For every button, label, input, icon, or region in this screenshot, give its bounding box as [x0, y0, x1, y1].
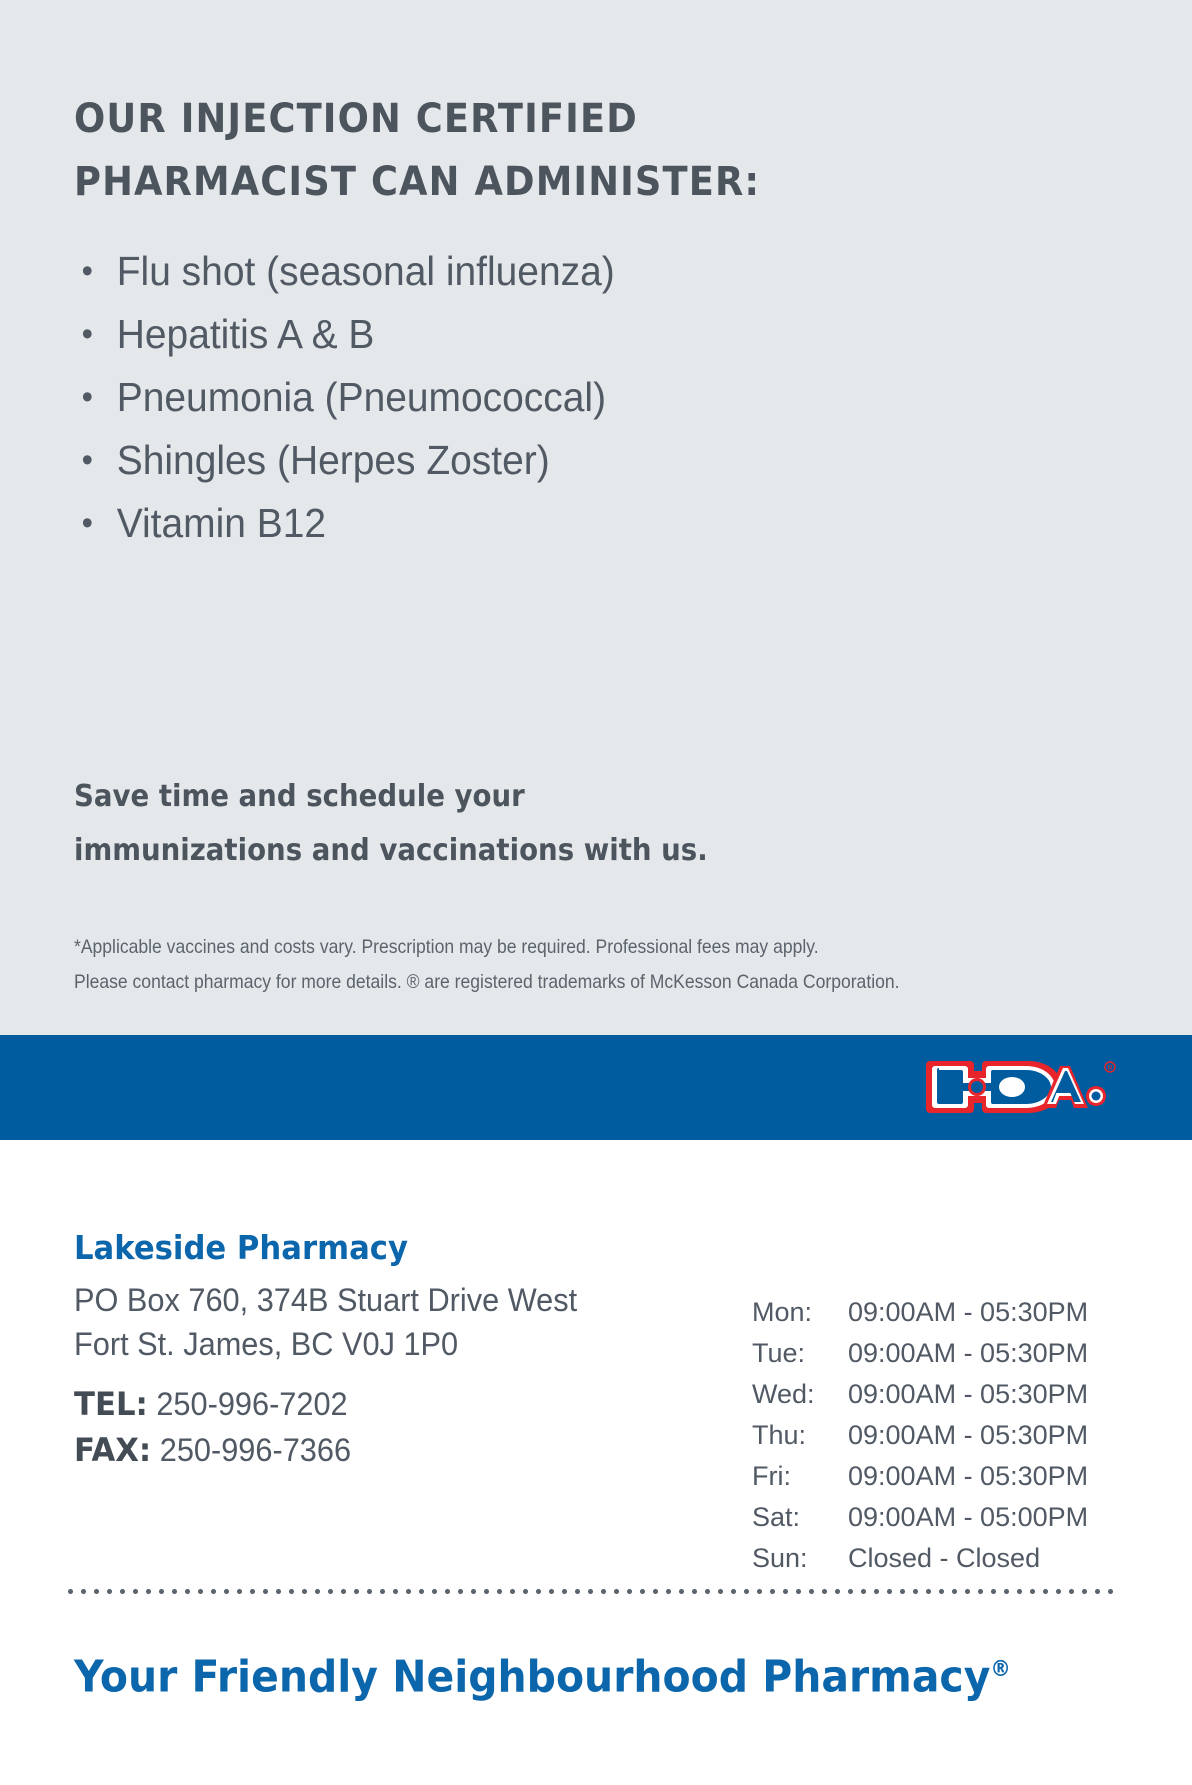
hours-time: 09:00AM - 05:30PM — [848, 1456, 1088, 1497]
bullet-icon: • — [82, 303, 93, 366]
hours-day: Sun: — [752, 1538, 848, 1579]
hours-time: 09:00AM - 05:30PM — [848, 1415, 1088, 1456]
hours-time: Closed - Closed — [848, 1538, 1040, 1579]
cta-line-1: Save time and schedule your — [74, 770, 773, 824]
store-contact: TEL: 250-996-7202 FAX: 250-996-7366 — [74, 1381, 688, 1473]
cta-line-2: immunizations and vaccinations with us. — [74, 824, 773, 878]
hours-time: 09:00AM - 05:30PM — [848, 1333, 1088, 1374]
store-info-panel: Lakeside Pharmacy PO Box 760, 374B Stuar… — [0, 1140, 1192, 1785]
telephone-row: TEL: 250-996-7202 — [74, 1381, 688, 1427]
ida-logo: R — [924, 1051, 1124, 1123]
page-title: OUR INJECTION CERTIFIED PHARMACIST CAN A… — [74, 88, 828, 214]
services-panel: OUR INJECTION CERTIFIED PHARMACIST CAN A… — [0, 0, 1192, 1035]
registered-mark: ® — [990, 1657, 1010, 1682]
hours-day: Tue: — [752, 1333, 848, 1374]
hours-day: Mon: — [752, 1292, 848, 1333]
bullet-icon: • — [82, 492, 93, 555]
hours-row: Sun:Closed - Closed — [752, 1538, 1088, 1579]
vaccine-list-item: •Pneumonia (Pneumococcal) — [74, 366, 891, 429]
hours-row: Tue:09:00AM - 05:30PM — [752, 1333, 1088, 1374]
vaccine-list: •Flu shot (seasonal influenza)•Hepatitis… — [74, 240, 934, 555]
dotted-divider — [64, 1588, 1119, 1595]
bullet-icon: • — [82, 366, 93, 429]
disclaimer-line-2: Please contact pharmacy for more details… — [74, 965, 1046, 1000]
bullet-icon: • — [82, 429, 93, 492]
hours-day: Sat: — [752, 1497, 848, 1538]
vaccine-label: Shingles (Herpes Zoster) — [117, 437, 550, 483]
hours-day: Wed: — [752, 1374, 848, 1415]
tagline: Your Friendly Neighbourhood Pharmacy® — [74, 1640, 1011, 1708]
flyer-page: OUR INJECTION CERTIFIED PHARMACIST CAN A… — [0, 0, 1192, 1785]
fax-label: FAX: — [74, 1431, 151, 1469]
cta-message: Save time and schedule your immunization… — [74, 770, 773, 878]
disclaimer-line-1: *Applicable vaccines and costs vary. Pre… — [74, 930, 1046, 965]
hours-time: 09:00AM - 05:30PM — [848, 1292, 1088, 1333]
hours-row: Thu:09:00AM - 05:30PM — [752, 1415, 1088, 1456]
hours-row: Fri:09:00AM - 05:30PM — [752, 1456, 1088, 1497]
vaccine-list-item: •Shingles (Herpes Zoster) — [74, 429, 891, 492]
telephone-label: TEL: — [74, 1385, 148, 1423]
hours-time: 09:00AM - 05:00PM — [848, 1497, 1088, 1538]
svg-text:R: R — [1107, 1065, 1112, 1072]
vaccine-label: Pneumonia (Pneumococcal) — [117, 374, 606, 420]
hours-row: Sat:09:00AM - 05:00PM — [752, 1497, 1088, 1538]
vaccine-list-item: •Flu shot (seasonal influenza) — [74, 240, 891, 303]
hours-time: 09:00AM - 05:30PM — [848, 1374, 1088, 1415]
vaccine-label: Flu shot (seasonal influenza) — [117, 248, 615, 294]
vaccine-label: Vitamin B12 — [117, 500, 326, 546]
hours-row: Wed:09:00AM - 05:30PM — [752, 1374, 1088, 1415]
telephone-value[interactable]: 250-996-7202 — [156, 1386, 347, 1422]
vaccine-label: Hepatitis A & B — [117, 311, 375, 357]
address-line-2: Fort St. James, BC V0J 1P0 — [74, 1322, 688, 1366]
page-title-line-1: OUR INJECTION CERTIFIED — [74, 88, 828, 151]
brand-band: R — [0, 1035, 1192, 1140]
hours-row: Mon:09:00AM - 05:30PM — [752, 1292, 1088, 1333]
vaccine-list-item: •Hepatitis A & B — [74, 303, 891, 366]
address-line-1: PO Box 760, 374B Stuart Drive West — [74, 1278, 688, 1322]
fax-row: FAX: 250-996-7366 — [74, 1427, 688, 1473]
vaccine-list-item: •Vitamin B12 — [74, 492, 891, 555]
store-address: PO Box 760, 374B Stuart Drive West Fort … — [74, 1278, 688, 1366]
hours-day: Fri: — [752, 1456, 848, 1497]
bullet-icon: • — [82, 240, 93, 303]
disclaimer: *Applicable vaccines and costs vary. Pre… — [74, 930, 1046, 1000]
store-name: Lakeside Pharmacy — [74, 1228, 408, 1268]
store-hours: Mon:09:00AM - 05:30PMTue:09:00AM - 05:30… — [752, 1292, 1088, 1579]
tagline-text: Your Friendly Neighbourhood Pharmacy — [74, 1652, 990, 1703]
hours-day: Thu: — [752, 1415, 848, 1456]
page-title-line-2: PHARMACIST CAN ADMINISTER: — [74, 151, 828, 214]
fax-value: 250-996-7366 — [160, 1432, 351, 1468]
